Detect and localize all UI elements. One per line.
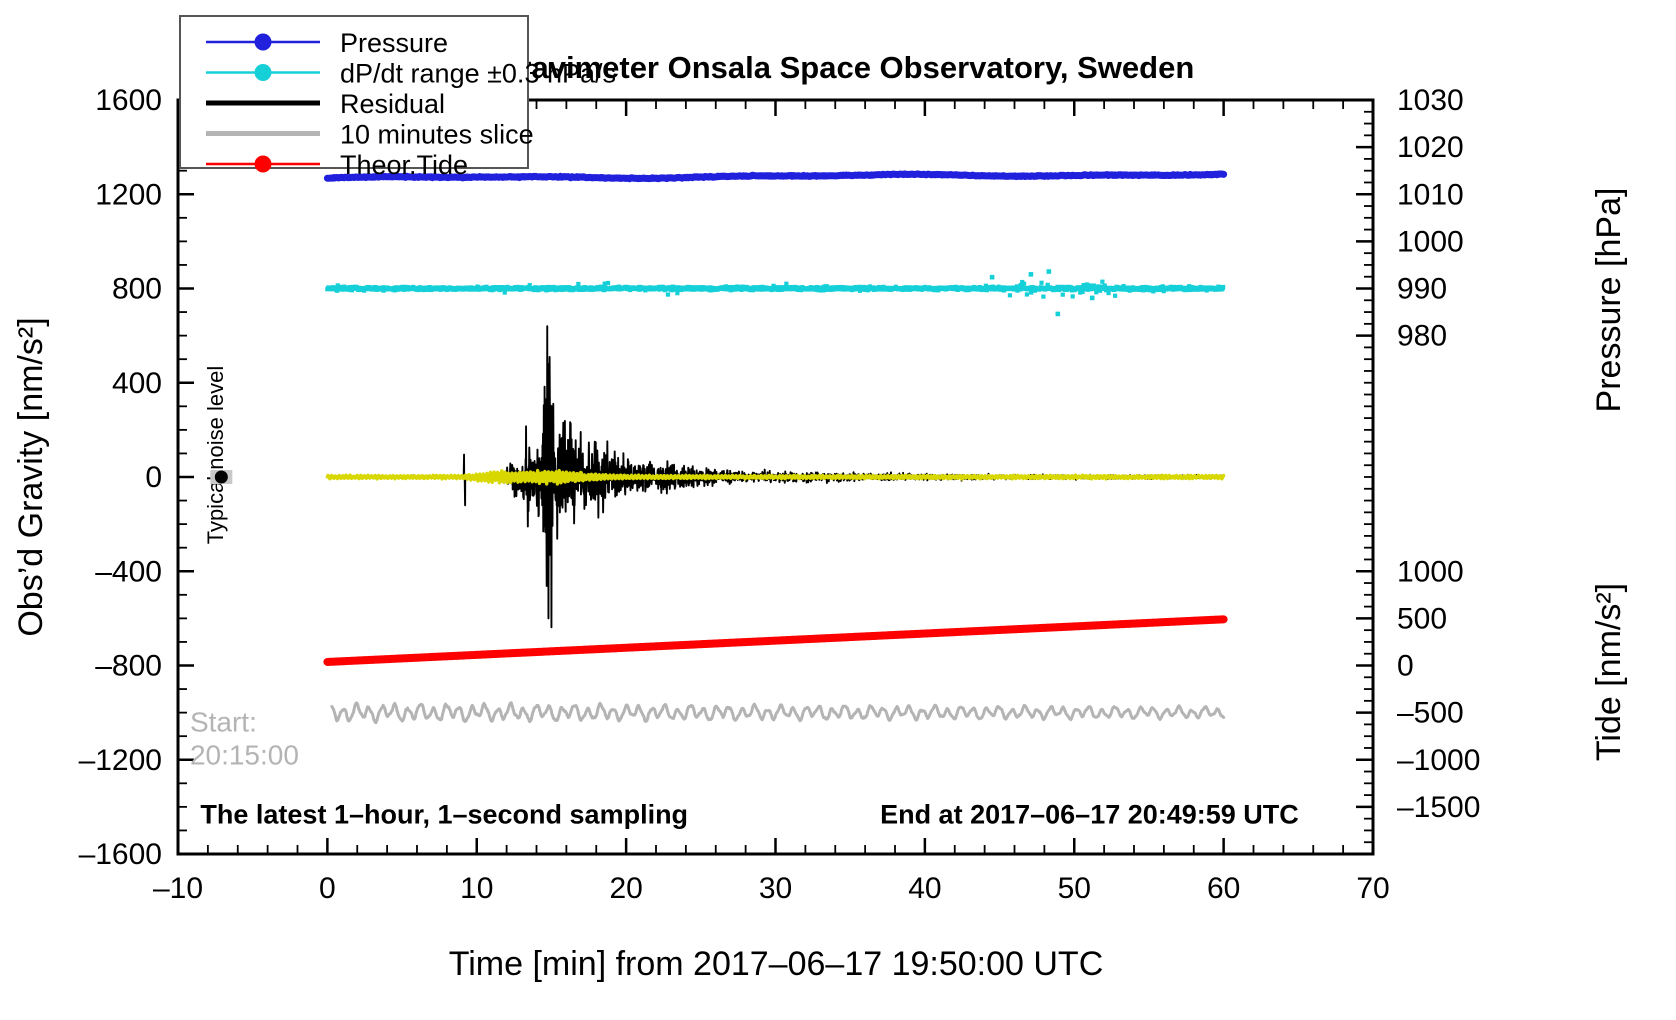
legend-swatch-marker: [255, 64, 272, 81]
y-tick-label-pressure: 1030: [1397, 84, 1464, 117]
legend-label: Theor.Tide: [340, 150, 468, 180]
y-tick-label-pressure: 980: [1397, 320, 1447, 353]
y-tick-label-tide: –500: [1397, 697, 1464, 730]
x-tick-label: 70: [1356, 872, 1389, 905]
y-tick-label-pressure: 1010: [1397, 178, 1464, 211]
legend-swatch-marker: [255, 156, 272, 173]
y-axis-title-pressure: Pressure [hPa]: [1590, 188, 1628, 413]
legend-label: Pressure: [340, 28, 448, 58]
y-tick-label-pressure: 1000: [1397, 225, 1464, 258]
legend-swatch-marker: [255, 34, 272, 51]
y-tick-label-tide: –1500: [1397, 791, 1480, 824]
start-time: 20:15:00: [190, 739, 299, 770]
y-tick-label-left: 1600: [95, 84, 162, 117]
x-tick-label: –10: [153, 872, 203, 905]
x-tick-label: 30: [759, 872, 792, 905]
chart-root: –10010203040506070160012008004000–400–80…: [0, 0, 1676, 1020]
end-time-note: End at 2017–06–17 20:49:59 UTC: [880, 799, 1299, 829]
y-tick-label-tide: 0: [1397, 650, 1414, 683]
y-tick-label-left: –800: [95, 650, 162, 683]
y-tick-label-tide: 1000: [1397, 555, 1464, 588]
y-tick-label-pressure: 990: [1397, 273, 1447, 306]
x-tick-label: 40: [908, 872, 941, 905]
y-tick-label-left: 800: [112, 273, 162, 306]
y-tick-label-tide: 500: [1397, 602, 1447, 635]
y-tick-label-left: 400: [112, 367, 162, 400]
noise-level-label: Typical noise level: [203, 366, 228, 545]
x-tick-label: 60: [1207, 872, 1240, 905]
y-tick-label-left: 1200: [95, 178, 162, 211]
y-tick-label-tide: –1000: [1397, 744, 1480, 777]
y-tick-label-left: –1600: [79, 838, 162, 871]
sampling-note: The latest 1–hour, 1–second sampling: [200, 799, 688, 829]
gravimeter-plot: –10010203040506070160012008004000–400–80…: [0, 0, 1676, 1020]
y-tick-label-left: –1200: [79, 744, 162, 777]
legend-label: 10 minutes slice: [340, 120, 534, 150]
y-tick-label-left: –400: [95, 555, 162, 588]
x-tick-label: 50: [1058, 872, 1091, 905]
x-tick-label: 20: [609, 872, 642, 905]
x-tick-label: 0: [319, 872, 336, 905]
y-axis-title-tide: Tide [nm/s²]: [1590, 583, 1628, 761]
x-axis-title: Time [min] from 2017–06–17 19:50:00 UTC: [449, 945, 1104, 983]
legend-label: Residual: [340, 89, 445, 119]
legend-label: dP/dt range ±0.3 hPa/s: [340, 59, 616, 89]
noise-level-marker: [210, 470, 232, 484]
start-label: Start:: [190, 706, 257, 737]
y-tick-label-left: 0: [145, 461, 162, 494]
x-tick-label: 10: [460, 872, 493, 905]
y-axis-title-left: Obs’d Gravity [nm/s²]: [12, 317, 50, 636]
y-tick-label-pressure: 1020: [1397, 131, 1464, 164]
